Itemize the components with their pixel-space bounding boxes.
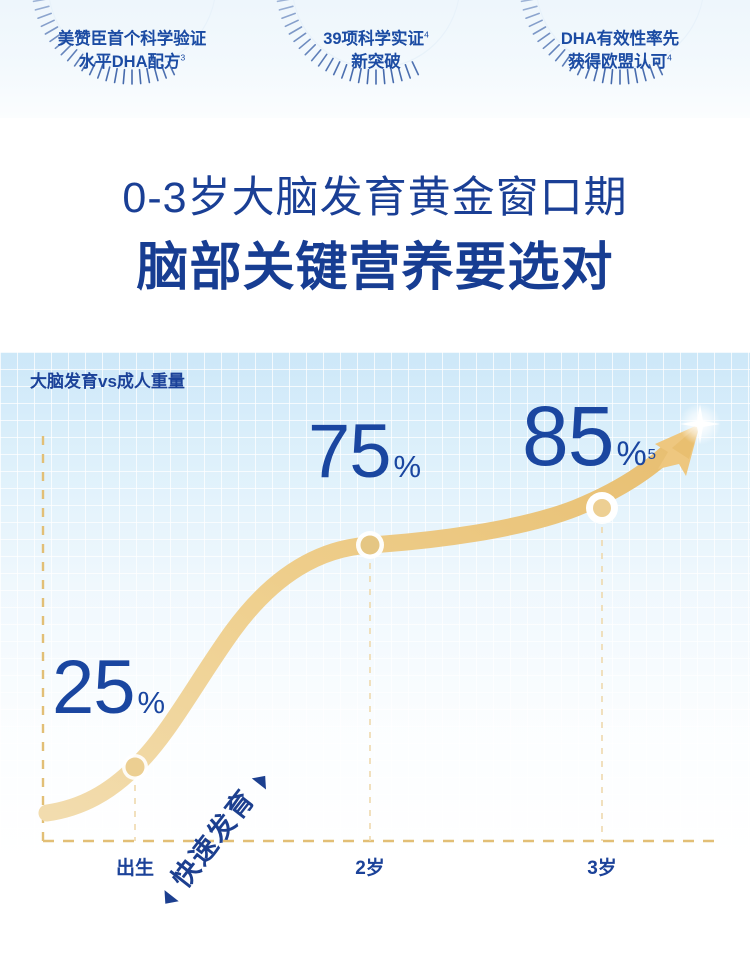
- value-label-birth: 25%: [52, 650, 165, 726]
- footnote-marker: 3: [181, 53, 186, 63]
- footnote-marker: 4: [424, 30, 429, 40]
- footnote-marker: 4: [667, 53, 672, 63]
- promo-infographic-page: 科学 美赞臣首个科学验证水平DHA配方3 实证 39项科学实证4新突破 有效 D…: [0, 0, 750, 961]
- data-point-birth[interactable]: [126, 758, 145, 777]
- value-label-2y: 75%: [308, 414, 421, 490]
- badge-effective: 有效 DHA有效性率先获得欧盟认可4: [506, 0, 734, 114]
- data-point-2y[interactable]: [361, 536, 380, 555]
- footnote-marker: 5: [648, 446, 656, 463]
- badge-subtitle: 美赞臣首个科学验证水平DHA配方3: [30, 28, 234, 75]
- y-axis-label: 大脑发育vs成人重量: [30, 370, 220, 395]
- data-point-3y[interactable]: [593, 499, 611, 517]
- badge-strip: 科学 美赞臣首个科学验证水平DHA配方3 实证 39项科学实证4新突破 有效 D…: [0, 0, 750, 118]
- percent-sign: %: [616, 435, 646, 473]
- value-number: 25: [52, 645, 135, 730]
- badge-science: 科学 美赞臣首个科学验证水平DHA配方3: [18, 0, 246, 114]
- badge-subtitle: 39项科学实证4新突破: [274, 28, 478, 75]
- headline-block: 0-3岁大脑发育黄金窗口期 脑部关键营养要选对: [0, 172, 750, 300]
- headline-secondary: 脑部关键营养要选对: [0, 237, 750, 299]
- x-tick-label-2y: 2岁: [310, 853, 430, 880]
- triangle-marker-icon: [252, 770, 272, 789]
- percent-sign: %: [394, 449, 422, 484]
- brain-growth-chart: 大脑发育vs成人重量 25% 75% 85%5 快速发育 出生 2岁 3岁: [0, 352, 750, 961]
- x-tick-label-birth: 出生: [75, 853, 195, 880]
- percent-sign: %: [138, 685, 166, 720]
- headline-primary: 0-3岁大脑发育黄金窗口期: [0, 172, 750, 224]
- value-number: 85: [522, 389, 613, 483]
- value-label-3y: 85%5: [522, 394, 656, 478]
- badge-subtitle: DHA有效性率先获得欧盟认可4: [518, 28, 722, 75]
- value-number: 75: [308, 409, 391, 494]
- x-tick-label-3y: 3岁: [542, 853, 662, 880]
- badge-evidence: 实证 39项科学实证4新突破: [262, 0, 490, 114]
